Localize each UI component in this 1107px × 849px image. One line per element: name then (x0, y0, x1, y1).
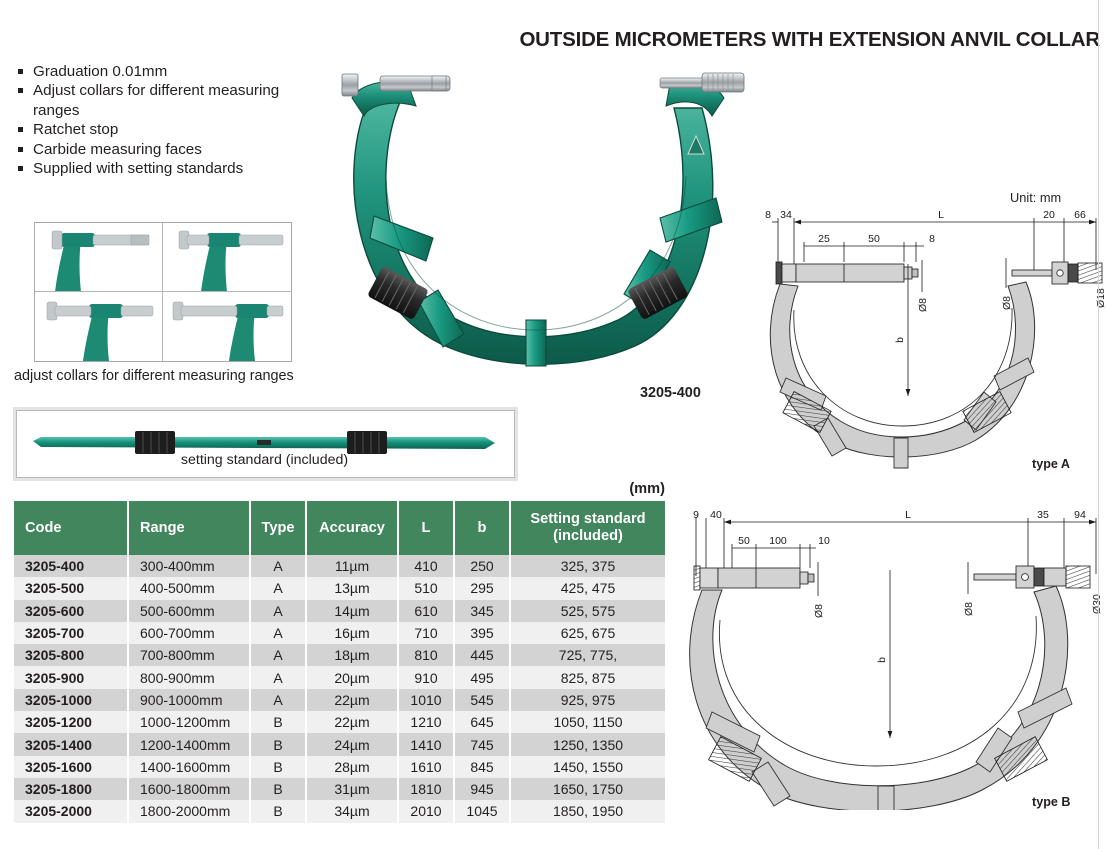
cell-b: 495 (454, 666, 510, 688)
cell-range: 700-800mm (128, 644, 250, 666)
list-item: Carbide measuring faces (18, 140, 318, 159)
cell-b: 395 (454, 622, 510, 644)
setting-standard-header-line1: Setting standard (530, 511, 645, 527)
cell-type: A (250, 689, 306, 711)
cell-accuracy: 22µm (306, 689, 398, 711)
cell-setting-standard: 1850, 1950 (510, 800, 665, 822)
cell-setting-standard: 825, 875 (510, 666, 665, 688)
cell-range: 500-600mm (128, 600, 250, 622)
cell-code: 3205-500 (14, 577, 128, 599)
technical-drawing-type-a: L 8 34 20 66 25 50 8 Ø8 Ø8 (676, 200, 1107, 475)
drawing-caption-type-b: type B (1032, 795, 1071, 809)
dim-66-a: 66 (1074, 209, 1086, 221)
cell-range: 1000-1200mm (128, 711, 250, 733)
dim-b-a: b (894, 337, 906, 343)
cell-setting-standard: 1050, 1150 (510, 711, 665, 733)
cell-accuracy: 22µm (306, 711, 398, 733)
list-item: Adjust collars for different measuring r… (18, 81, 318, 120)
table-row: 3205-800700-800mmA18µm810445725, 775, (14, 644, 665, 666)
dim-dia8-left-a: Ø8 (917, 298, 929, 312)
table-row: 3205-16001400-1600mmB28µm16108451450, 15… (14, 756, 665, 778)
cell-code: 3205-1000 (14, 689, 128, 711)
table-header-row: Code Range Type Accuracy L b Setting sta… (14, 501, 665, 555)
cell-range: 800-900mm (128, 666, 250, 688)
drawing-caption-type-a: type A (1032, 457, 1070, 471)
cell-code: 3205-400 (14, 555, 128, 577)
page-margin-rule (1098, 0, 1099, 849)
cell-setting-standard: 525, 575 (510, 600, 665, 622)
cell-l: 410 (398, 555, 454, 577)
cell-code: 3205-1400 (14, 733, 128, 755)
dim-9-b: 9 (693, 509, 699, 521)
dim-8b-a: 8 (929, 233, 935, 245)
cell-setting-standard: 625, 675 (510, 622, 665, 644)
cell-type: A (250, 555, 306, 577)
cell-l: 1010 (398, 689, 454, 711)
cell-setting-standard: 925, 975 (510, 689, 665, 711)
cell-range: 300-400mm (128, 555, 250, 577)
cell-accuracy: 34µm (306, 800, 398, 822)
cell-accuracy: 20µm (306, 666, 398, 688)
table-row: 3205-18001600-1800mmB31µm18109451650, 17… (14, 778, 665, 800)
column-header-code: Code (14, 501, 128, 555)
cell-code: 3205-1800 (14, 778, 128, 800)
cell-range: 1400-1600mm (128, 756, 250, 778)
dim-L-b: L (905, 509, 911, 521)
column-header-setting-standard: Setting standard (included) (510, 501, 665, 555)
dim-dia8-right-a: Ø8 (1001, 296, 1013, 310)
anvil-face-left (342, 74, 358, 96)
feature-list-items: Graduation 0.01mm Adjust collars for dif… (18, 62, 318, 178)
dim-34-a: 34 (780, 209, 792, 221)
setting-standard-caption: setting standard (included) (16, 452, 513, 468)
dim-94-b: 94 (1074, 509, 1086, 521)
dim-8-a: 8 (765, 209, 771, 221)
dim-25-a: 25 (818, 233, 830, 245)
cell-range: 600-700mm (128, 622, 250, 644)
feature-list: Graduation 0.01mm Adjust collars for dif… (18, 62, 318, 178)
dim-35-b: 35 (1037, 509, 1049, 521)
cell-b: 295 (454, 577, 510, 599)
table-unit-label: (mm) (520, 481, 665, 497)
dim-b-b: b (876, 657, 888, 663)
dim-dia8-right-b: Ø8 (963, 602, 975, 616)
dim-dia30-b: Ø30 (1091, 594, 1103, 614)
table-row: 3205-600500-600mmA14µm610345525, 575 (14, 600, 665, 622)
cell-b: 845 (454, 756, 510, 778)
column-header-b: b (454, 501, 510, 555)
rod-collar-right (347, 431, 387, 454)
cell-code: 3205-700 (14, 622, 128, 644)
cell-code: 3205-2000 (14, 800, 128, 822)
cell-b: 545 (454, 689, 510, 711)
table-row: 3205-14001200-1400mmB24µm14107451250, 13… (14, 733, 665, 755)
spindle (660, 78, 704, 88)
cell-b: 445 (454, 644, 510, 666)
cell-code: 3205-1200 (14, 711, 128, 733)
dim-20-a: 20 (1043, 209, 1055, 221)
rod-center-mark (257, 440, 271, 445)
dim-dia8-left-b: Ø8 (813, 604, 825, 618)
cell-code: 3205-800 (14, 644, 128, 666)
cell-accuracy: 16µm (306, 622, 398, 644)
cell-code: 3205-600 (14, 600, 128, 622)
cell-l: 1210 (398, 711, 454, 733)
dim-10-b: 10 (818, 535, 830, 547)
cell-accuracy: 18µm (306, 644, 398, 666)
dim-50-b: 50 (738, 535, 750, 547)
collar-gallery-caption: adjust collars for different measuring r… (14, 368, 334, 384)
dim-100-b: 100 (769, 535, 787, 547)
cell-range: 400-500mm (128, 577, 250, 599)
cell-accuracy: 28µm (306, 756, 398, 778)
column-header-range: Range (128, 501, 250, 555)
cell-setting-standard: 325, 375 (510, 555, 665, 577)
cell-b: 945 (454, 778, 510, 800)
cell-l: 1610 (398, 756, 454, 778)
cell-b: 1045 (454, 800, 510, 822)
cell-type: A (250, 577, 306, 599)
cell-l: 710 (398, 622, 454, 644)
frame-outline-a (770, 282, 1034, 457)
cell-range: 1200-1400mm (128, 733, 250, 755)
cell-accuracy: 13µm (306, 577, 398, 599)
list-item: Graduation 0.01mm (18, 62, 318, 81)
cell-accuracy: 31µm (306, 778, 398, 800)
setting-standard-header-line2: (included) (553, 528, 623, 544)
column-header-accuracy: Accuracy (306, 501, 398, 555)
cell-b: 345 (454, 600, 510, 622)
collar-thumbnail-3 (35, 292, 163, 361)
cell-l: 610 (398, 600, 454, 622)
dim-L-a: L (938, 209, 944, 221)
cell-type: B (250, 733, 306, 755)
cell-l: 910 (398, 666, 454, 688)
collar-thumbnail-1 (35, 223, 163, 292)
cell-accuracy: 11µm (306, 555, 398, 577)
cell-type: A (250, 666, 306, 688)
cell-l: 810 (398, 644, 454, 666)
cell-range: 900-1000mm (128, 689, 250, 711)
table-row: 3205-900800-900mmA20µm910495825, 875 (14, 666, 665, 688)
list-item: Ratchet stop (18, 120, 318, 139)
table-row: 3205-1000900-1000mmA22µm1010545925, 975 (14, 689, 665, 711)
collar-thumbnail-4 (163, 292, 291, 361)
collar-thumbnail-2 (163, 223, 291, 292)
cell-type: A (250, 622, 306, 644)
cell-type: B (250, 778, 306, 800)
rod-collar-left (135, 431, 175, 454)
cell-code: 3205-900 (14, 666, 128, 688)
technical-drawing-type-b: L 9 40 35 94 50 100 10 Ø8 Ø8 (676, 500, 1107, 810)
cell-range: 1600-1800mm (128, 778, 250, 800)
table-row: 3205-12001000-1200mmB22µm12106451050, 11… (14, 711, 665, 733)
cell-l: 1410 (398, 733, 454, 755)
cell-setting-standard: 725, 775, (510, 644, 665, 666)
page-title: OUTSIDE MICROMETERS WITH EXTENSION ANVIL… (360, 28, 1100, 52)
cell-code: 3205-1600 (14, 756, 128, 778)
cell-type: B (250, 711, 306, 733)
cell-l: 1810 (398, 778, 454, 800)
cell-setting-standard: 1450, 1550 (510, 756, 665, 778)
table-row: 3205-500400-500mmA13µm510295425, 475 (14, 577, 665, 599)
table-row: 3205-20001800-2000mmB34µm201010451850, 1… (14, 800, 665, 822)
cell-setting-standard: 1250, 1350 (510, 733, 665, 755)
cell-l: 2010 (398, 800, 454, 822)
cell-accuracy: 14µm (306, 600, 398, 622)
cell-accuracy: 24µm (306, 733, 398, 755)
dim-50-a: 50 (868, 233, 880, 245)
cell-b: 745 (454, 733, 510, 755)
table-row: 3205-400300-400mmA11µm410250325, 375 (14, 555, 665, 577)
cell-type: B (250, 800, 306, 822)
cell-setting-standard: 1650, 1750 (510, 778, 665, 800)
cell-range: 1800-2000mm (128, 800, 250, 822)
dim-dia18-a: Ø18 (1095, 288, 1107, 308)
column-header-l: L (398, 501, 454, 555)
cell-type: B (250, 756, 306, 778)
cell-l: 510 (398, 577, 454, 599)
cell-type: A (250, 644, 306, 666)
specification-table: Code Range Type Accuracy L b Setting sta… (14, 501, 665, 823)
list-item: Supplied with setting standards (18, 159, 318, 178)
cell-setting-standard: 425, 475 (510, 577, 665, 599)
cell-b: 250 (454, 555, 510, 577)
column-header-type: Type (250, 501, 306, 555)
dim-40-b: 40 (710, 509, 722, 521)
cell-b: 645 (454, 711, 510, 733)
cell-type: A (250, 600, 306, 622)
collar-thumbnail-grid (34, 222, 292, 362)
table-row: 3205-700600-700mmA16µm710395625, 675 (14, 622, 665, 644)
